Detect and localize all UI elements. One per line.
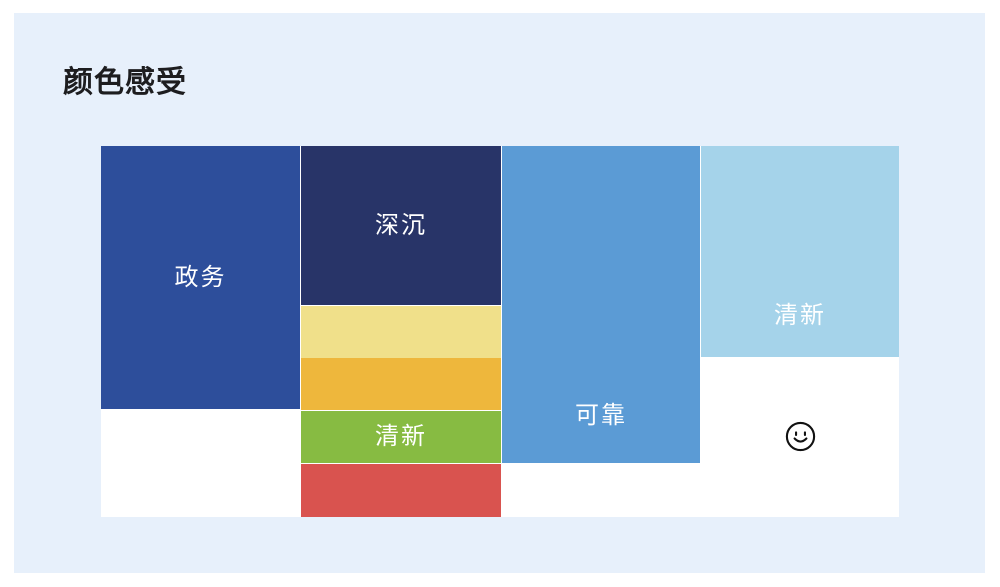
chart-block-label: 清新 xyxy=(774,304,826,328)
chart-block-gold[interactable] xyxy=(301,358,501,410)
page-title: 颜色感受 xyxy=(63,65,187,101)
chart-column-kekao: 可靠 xyxy=(502,146,700,517)
chart-block-label: 清新 xyxy=(375,425,427,449)
chart-block-shenchen[interactable]: 深沉 xyxy=(301,146,501,305)
chart-column-shenchen: 深沉 清新 xyxy=(301,146,501,517)
chart-block-label: 深沉 xyxy=(375,214,427,238)
chart-column-zhengwu: 政务 xyxy=(101,146,300,517)
chart-block-qingxin-green[interactable]: 清新 xyxy=(301,411,501,463)
color-mosaic-chart: 政务 深沉 清新 可靠 xyxy=(101,146,899,517)
chart-block-label: 可靠 xyxy=(575,404,627,428)
chart-block-kekao[interactable]: 可靠 xyxy=(502,146,700,463)
chart-block-qingxin-lightblue[interactable]: 清新 xyxy=(701,146,899,357)
slide-canvas: 颜色感受 政务 深沉 清新 xyxy=(14,13,985,573)
chart-block-label: 政务 xyxy=(175,266,227,290)
chart-block-pale-yellow[interactable] xyxy=(301,306,501,358)
smiley-face-icon[interactable] xyxy=(785,421,816,452)
chart-block-zhengwu[interactable]: 政务 xyxy=(101,146,300,409)
chart-block-red[interactable] xyxy=(301,464,501,517)
chart-column-qingxin: 清新 xyxy=(701,146,899,517)
